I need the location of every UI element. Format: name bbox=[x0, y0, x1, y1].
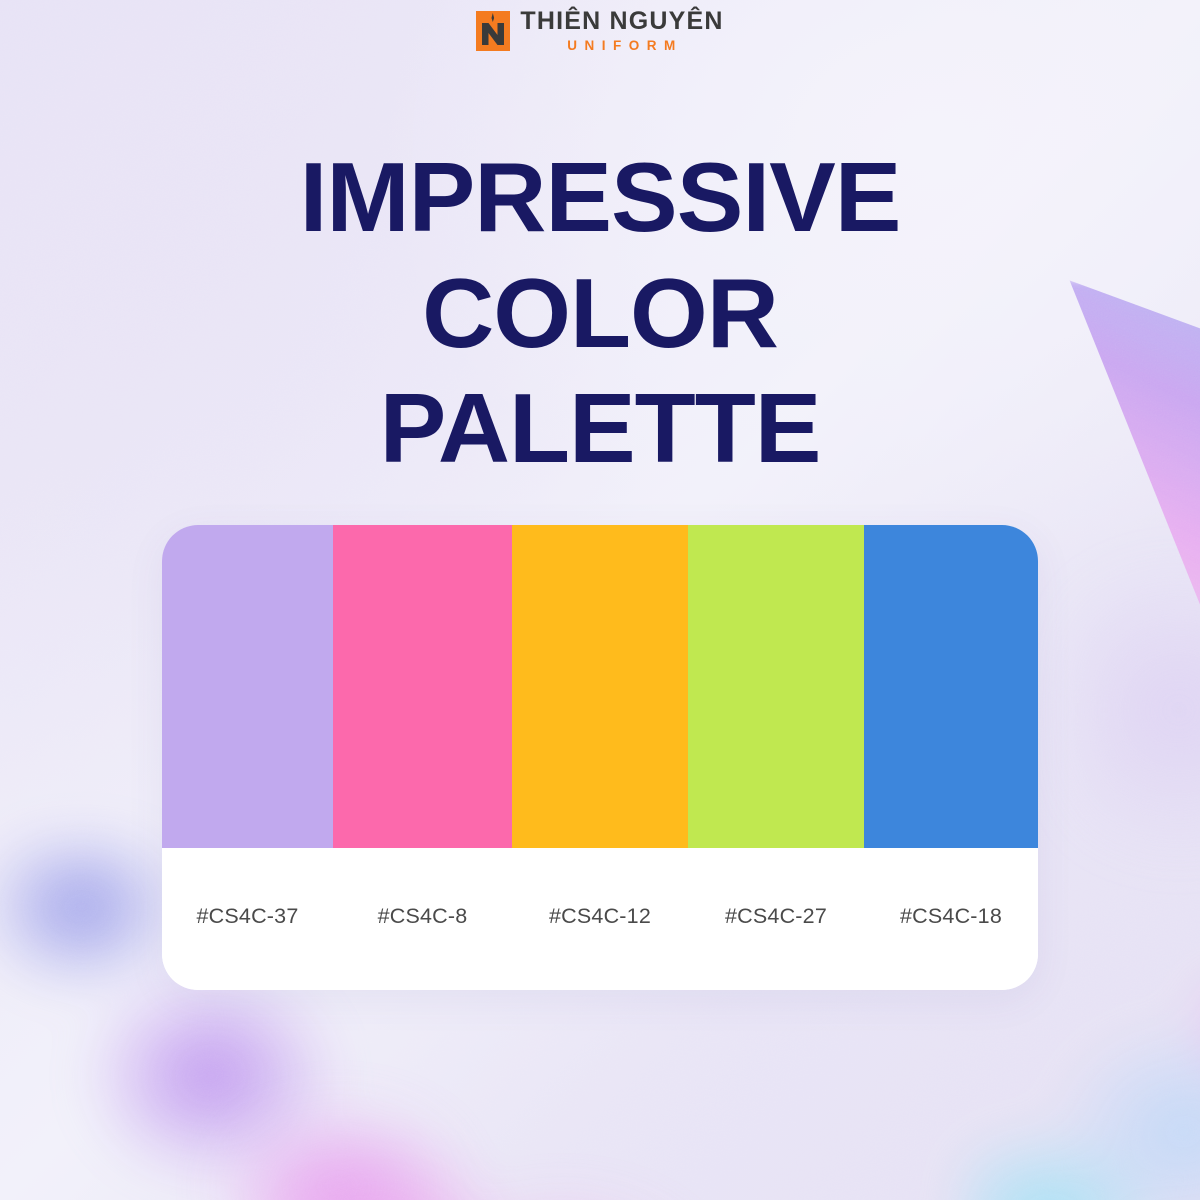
color-swatch-label-3: #CS4C-12 bbox=[512, 904, 688, 935]
page-title: IMPRESSIVE COLOR PALETTE bbox=[0, 140, 1200, 487]
color-swatch-label-2: #CS4C-8 bbox=[333, 904, 512, 935]
color-swatch-label-1: #CS4C-37 bbox=[162, 904, 333, 935]
color-swatch-3[interactable] bbox=[512, 525, 688, 848]
gradient-ribbon-secondary-decoration bbox=[170, 1050, 730, 1200]
letter-n-monogram-icon bbox=[476, 11, 510, 51]
page-title-line-2: COLOR bbox=[0, 256, 1200, 372]
poster-canvas: THIÊN NGUYÊN UNIFORM IMPRESSIVE COLOR PA… bbox=[0, 0, 1200, 1200]
swatch-label-strip: #CS4C-37 #CS4C-8 #CS4C-12 #CS4C-27 #CS4C… bbox=[162, 848, 1038, 990]
gradient-blob-right-decoration bbox=[1075, 560, 1200, 860]
swatch-strip bbox=[162, 525, 1038, 848]
brand-logo-text: THIÊN NGUYÊN UNIFORM bbox=[520, 9, 723, 53]
page-title-line-1: IMPRESSIVE bbox=[0, 140, 1200, 256]
brand-subtitle: UNIFORM bbox=[520, 39, 723, 53]
page-title-line-3: PALETTE bbox=[0, 371, 1200, 487]
brand-logo: THIÊN NGUYÊN UNIFORM bbox=[0, 8, 1200, 54]
color-swatch-label-4: #CS4C-27 bbox=[688, 904, 864, 935]
gradient-blob-bottom-right-decoration bbox=[960, 980, 1200, 1200]
brand-name: THIÊN NGUYÊN bbox=[520, 9, 723, 34]
color-swatch-1[interactable] bbox=[162, 525, 333, 848]
color-palette-card: #CS4C-37 #CS4C-8 #CS4C-12 #CS4C-27 #CS4C… bbox=[162, 525, 1038, 990]
color-swatch-label-5: #CS4C-18 bbox=[864, 904, 1038, 935]
color-swatch-5[interactable] bbox=[864, 525, 1038, 848]
color-swatch-2[interactable] bbox=[333, 525, 512, 848]
color-swatch-4[interactable] bbox=[688, 525, 864, 848]
